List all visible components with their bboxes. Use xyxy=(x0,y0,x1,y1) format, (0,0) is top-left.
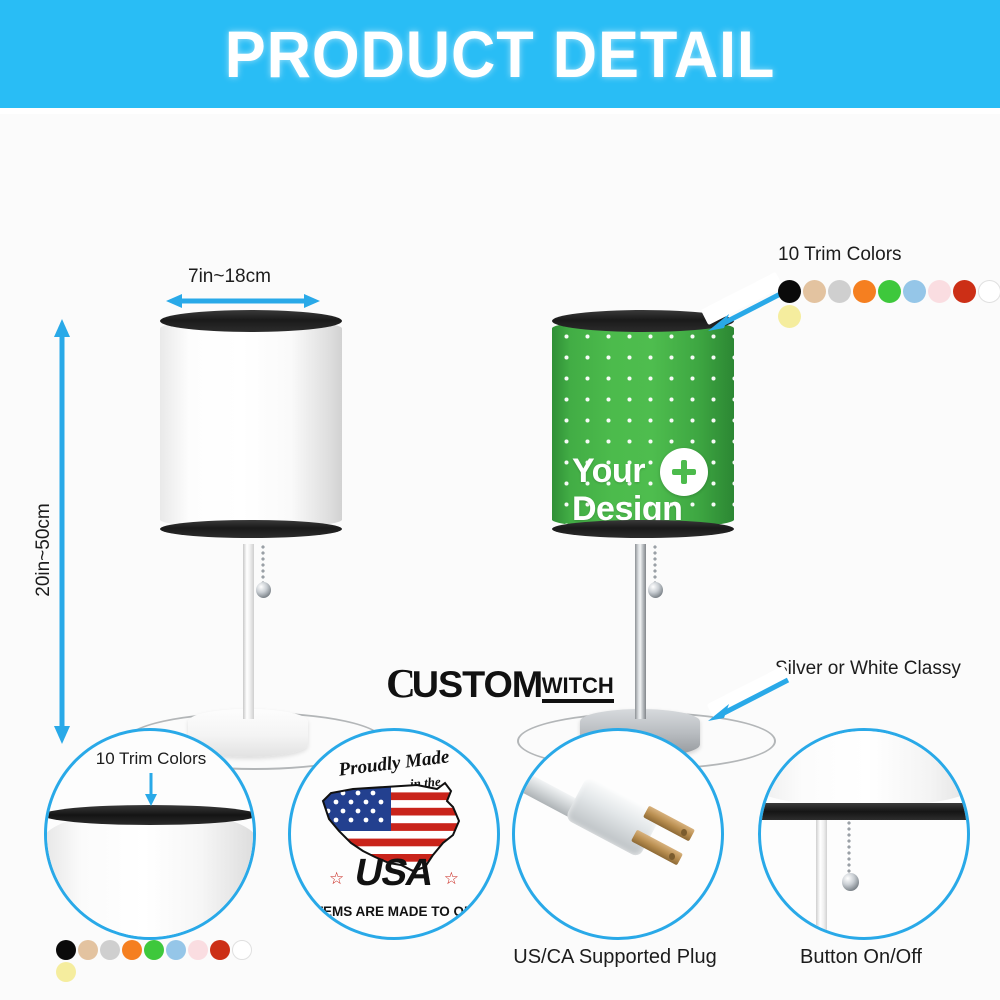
main-showcase-panel: 7in~18cm 20in~50cm xyxy=(0,114,1000,660)
trim-swatch-red[interactable] xyxy=(953,280,976,303)
feature-shade-trim xyxy=(44,805,256,825)
trim-swatch-pink[interactable] xyxy=(188,940,208,960)
trim-swatch-black[interactable] xyxy=(778,280,801,303)
trim-swatch-white[interactable] xyxy=(232,940,252,960)
page-title: PRODUCT DETAIL xyxy=(225,16,776,92)
trim-swatch-gray[interactable] xyxy=(828,280,851,303)
product-detail-page: PRODUCT DETAIL 7in~18cm 20in~50cm xyxy=(0,0,1000,1000)
usa-star-left-icon: ☆ xyxy=(329,869,344,889)
feature-trim-down-arrow xyxy=(143,773,159,807)
switch-shade-trim xyxy=(758,803,970,820)
trim-swatch-tan[interactable] xyxy=(803,280,826,303)
lampshade-white-bottom-trim xyxy=(160,520,342,538)
trim-swatch-orange[interactable] xyxy=(853,280,876,303)
trim-swatch-green[interactable] xyxy=(878,280,901,303)
usa-badge-subtitle: ALL ITEMS ARE MADE TO ORDER! xyxy=(288,904,500,919)
width-dimension-label: 7in~18cm xyxy=(188,266,271,288)
pull-chain-white[interactable] xyxy=(261,544,265,586)
lampshade-white-surface xyxy=(160,320,342,528)
plus-icon xyxy=(660,448,708,496)
pull-chain-silver[interactable] xyxy=(653,544,657,586)
feature-switch-circle xyxy=(758,728,970,940)
trim-swatch-black[interactable] xyxy=(56,940,76,960)
trim-swatch-gray[interactable] xyxy=(100,940,120,960)
lampshade-custom-green: Your Design xyxy=(552,310,734,538)
switch-pull-chain-ball[interactable] xyxy=(842,873,859,891)
pull-chain-ball-white[interactable] xyxy=(256,582,271,598)
usa-star-right-icon: ☆ xyxy=(444,869,459,889)
trim-swatch-tan[interactable] xyxy=(78,940,98,960)
lampshade-white-top-trim xyxy=(160,310,342,332)
feature-usa-circle: Proudly Made in the xyxy=(288,728,500,940)
feature-trim-colors-circle: 10 Trim Colors xyxy=(44,728,256,940)
switch-lamp-pole xyxy=(816,820,827,940)
height-dimension-label: 20in~50cm xyxy=(33,480,55,620)
trim-color-swatches-top xyxy=(778,280,1000,330)
brand-logo-name: USTOM xyxy=(412,666,542,703)
plug-blade-hole-top xyxy=(681,829,687,836)
feature-plug-caption: US/CA Supported Plug xyxy=(490,946,740,969)
width-dimension-arrow xyxy=(166,294,320,308)
trim-colors-callout-label: 10 Trim Colors xyxy=(778,244,902,266)
pull-chain-ball-silver[interactable] xyxy=(648,582,663,598)
trim-swatch-red[interactable] xyxy=(210,940,230,960)
trim-swatch-green[interactable] xyxy=(144,940,164,960)
trim-swatch-white[interactable] xyxy=(978,280,1000,303)
trim-swatch-orange[interactable] xyxy=(122,940,142,960)
feature-trim-colors-inner-label: 10 Trim Colors xyxy=(87,749,215,769)
trim-swatch-yellow[interactable] xyxy=(56,962,76,982)
trim-swatch-yellow[interactable] xyxy=(778,305,801,328)
usa-badge-country: USA xyxy=(351,852,437,895)
feature-plug-circle xyxy=(512,728,724,940)
switch-shade-surface xyxy=(758,728,970,805)
feature-shade-surface xyxy=(44,811,256,940)
feature-switch-caption: Button On/Off xyxy=(736,946,986,969)
lampshade-green-bottom-trim xyxy=(552,520,734,538)
trim-swatch-pink[interactable] xyxy=(928,280,951,303)
switch-pull-chain[interactable] xyxy=(847,820,851,876)
brand-logo: C USTOM WITCH xyxy=(0,663,1000,703)
plug-blade-hole-bottom xyxy=(669,853,675,860)
trim-swatch-light-blue[interactable] xyxy=(166,940,186,960)
trim-swatch-light-blue[interactable] xyxy=(903,280,926,303)
brand-logo-suffix: WITCH xyxy=(542,673,614,703)
usa-badge: Proudly Made in the xyxy=(291,731,497,937)
lampshade-white xyxy=(160,310,342,538)
trim-color-swatches-bottom xyxy=(56,940,256,984)
page-header: PRODUCT DETAIL xyxy=(0,0,1000,108)
lampshade-green-surface: Your Design xyxy=(552,320,734,528)
